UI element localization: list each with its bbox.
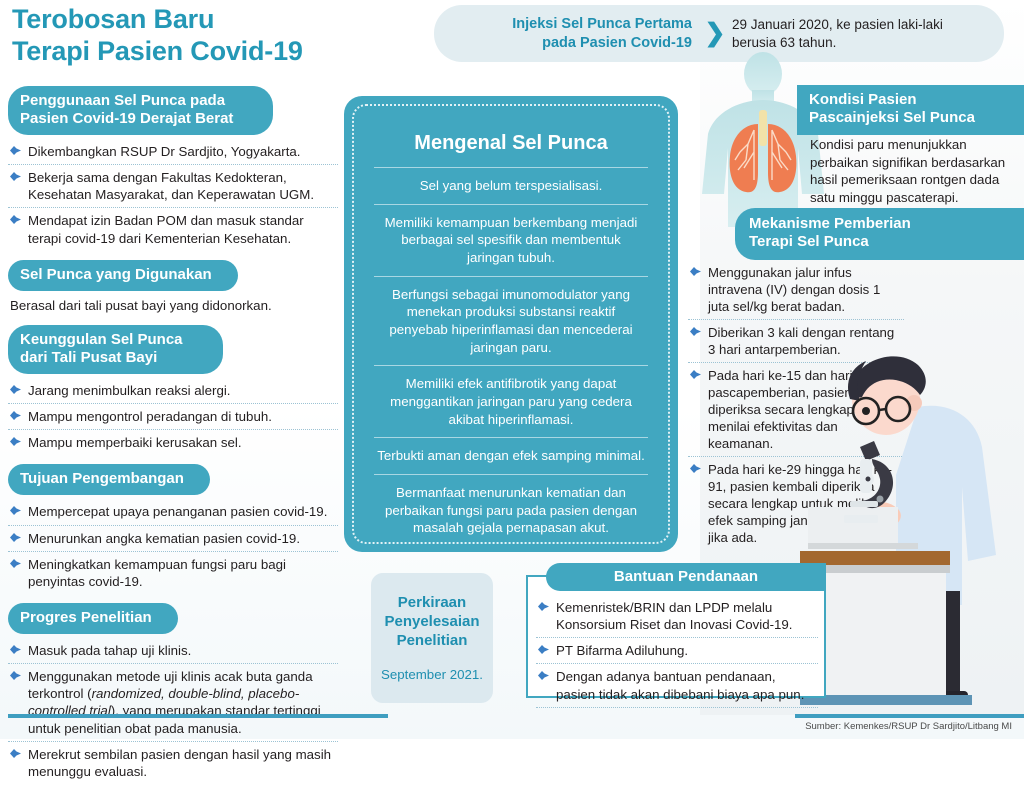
center-item: Memiliki kemampuan berkembang menjadi be… — [374, 204, 648, 276]
list-item: Dengan adanya bantuan pendanaan, pasien … — [536, 664, 818, 707]
center-item: Berfungsi sebagai imunomodulator yang me… — [374, 276, 648, 366]
arrow-bullet-icon — [10, 559, 21, 568]
perkiraan-penyelesaian-box: PerkiraanPenyelesaianPenelitian Septembe… — [371, 573, 493, 703]
section-penggunaan-heading: Penggunaan Sel Punca padaPasien Covid-19… — [8, 86, 273, 135]
scientist-microscope-illustration — [800, 355, 1024, 713]
list-item: Jarang menimbulkan reaksi alergi. — [8, 378, 338, 404]
arrow-bullet-icon — [10, 749, 21, 758]
list-item-text: Kemenristek/BRIN dan LPDP melalu Konsors… — [556, 600, 793, 632]
arrow-bullet-icon — [10, 172, 21, 181]
kondisi-pasien-heading: Kondisi PasienPascainjeksi Sel Punca — [797, 85, 1024, 135]
first-injection-text: 29 Januari 2020, ke pasien laki-laki ber… — [732, 16, 1004, 52]
mekanisme-heading: Mekanisme PemberianTerapi Sel Punca — [735, 208, 1024, 260]
section-penggunaan: Penggunaan Sel Punca padaPasien Covid-19… — [8, 86, 338, 251]
center-item: Bermanfaat menurunkan kematian dan perba… — [374, 474, 648, 546]
arrow-bullet-icon — [538, 602, 549, 611]
section-tujuan-heading: Tujuan Pengembangan — [8, 464, 210, 495]
tujuan-list: Mempercepat upaya penanganan pasien covi… — [8, 499, 338, 594]
list-item-text: Mampu mengontrol peradangan di tubuh. — [28, 409, 272, 424]
chevron-right-icon: ❯ — [698, 21, 732, 46]
section-sel-punca-digunakan-heading: Sel Punca yang Digunakan — [8, 260, 238, 291]
perkiraan-title: PerkiraanPenyelesaianPenelitian — [384, 594, 479, 650]
list-item-text: Diberikan 3 kali dengan rentang 3 hari a… — [708, 325, 894, 357]
infographic-page: Terobosan BaruTerapi Pasien Covid-19 Inj… — [0, 0, 1024, 739]
footer-rule-left — [8, 714, 388, 718]
arrow-bullet-icon — [10, 506, 21, 515]
progres-list: Masuk pada tahap uji klinis. Menggunakan… — [8, 638, 338, 784]
bantuan-list: Kemenristek/BRIN dan LPDP melalu Konsors… — [536, 595, 818, 708]
arrow-bullet-icon — [690, 464, 701, 473]
list-item: Menggunakan metode uji klinis acak buta … — [8, 664, 338, 742]
arrow-bullet-icon — [10, 671, 21, 680]
mengenal-sel-punca-inner: Mengenal Sel Punca Sel yang belum terspe… — [352, 104, 670, 544]
arrow-bullet-icon — [538, 645, 549, 654]
penggunaan-list: Dikembangkan RSUP Dr Sardjito, Yogyakart… — [8, 139, 338, 251]
center-item: Terbukti aman dengan efek samping minima… — [374, 437, 648, 474]
arrow-bullet-icon — [10, 385, 21, 394]
list-item: Mendapat izin Badan POM dan masuk standa… — [8, 208, 338, 250]
mengenal-sel-punca-panel: Mengenal Sel Punca Sel yang belum terspe… — [344, 96, 678, 552]
list-item: Menggunakan jalur infus intravena (IV) d… — [688, 260, 904, 320]
list-item: Dikembangkan RSUP Dr Sardjito, Yogyakart… — [8, 139, 338, 165]
list-item-text: Menurunkan angka kematian pasien covid-1… — [28, 531, 300, 546]
arrow-bullet-icon — [690, 370, 701, 379]
source-credit: Sumber: Kemenkes/RSUP Dr Sardjito/Litban… — [805, 721, 1012, 732]
list-item-text: Bekerja sama dengan Fakultas Kedokteran,… — [28, 170, 314, 202]
footer-rule-right — [795, 714, 1024, 718]
list-item-text: Jarang menimbulkan reaksi alergi. — [28, 383, 231, 398]
list-item: Mempercepat upaya penanganan pasien covi… — [8, 499, 338, 525]
arrow-bullet-icon — [690, 327, 701, 336]
list-item: Bekerja sama dengan Fakultas Kedokteran,… — [8, 165, 338, 208]
bantuan-list-wrap: Kemenristek/BRIN dan LPDP melalu Konsors… — [536, 591, 818, 708]
page-title: Terobosan BaruTerapi Pasien Covid-19 — [12, 4, 442, 68]
list-item-text: Dengan adanya bantuan pendanaan, pasien … — [556, 669, 804, 701]
keunggulan-list: Jarang menimbulkan reaksi alergi. Mampu … — [8, 378, 338, 455]
first-injection-label: Injeksi Sel Punca Pertamapada Pasien Cov… — [434, 15, 698, 51]
arrow-bullet-icon — [538, 671, 549, 680]
arrow-bullet-icon — [10, 411, 21, 420]
section-sel-punca-digunakan: Sel Punca yang Digunakan Berasal dari ta… — [8, 260, 338, 316]
section-keunggulan: Keunggulan Sel Puncadari Tali Pusat Bayi… — [8, 325, 338, 455]
list-item: Menurunkan angka kematian pasien covid-1… — [8, 526, 338, 552]
arrow-bullet-icon — [10, 437, 21, 446]
section-progres-heading: Progres Penelitian — [8, 603, 178, 634]
section-progres: Progres Penelitian Masuk pada tahap uji … — [8, 603, 338, 784]
arrow-bullet-icon — [10, 215, 21, 224]
center-item: Sel yang belum terspesialisasi. — [374, 167, 648, 204]
list-item: Mampu mengontrol peradangan di tubuh. — [8, 404, 338, 430]
section-tujuan: Tujuan Pengembangan Mempercepat upaya pe… — [8, 464, 338, 594]
list-item-text: Dikembangkan RSUP Dr Sardjito, Yogyakart… — [28, 144, 300, 159]
center-item: Memiliki efek antifibrotik yang dapat me… — [374, 365, 648, 437]
list-item-text: Mendapat izin Badan POM dan masuk standa… — [28, 213, 304, 245]
list-item: Masuk pada tahap uji klinis. — [8, 638, 338, 664]
list-item-text: Menggunakan metode uji klinis acak buta … — [28, 669, 321, 735]
perkiraan-date: September 2021. — [381, 667, 483, 682]
list-item-text: Menggunakan jalur infus intravena (IV) d… — [708, 265, 880, 314]
list-item: Meningkatkan kemampuan fungsi paru bagi … — [8, 552, 338, 594]
arrow-bullet-icon — [690, 267, 701, 276]
arrow-bullet-icon — [10, 146, 21, 155]
kondisi-pasien-text: Kondisi paru menunjukkan perbaikan signi… — [810, 136, 1022, 207]
list-item-text: Merekrut sembilan pasien dengan hasil ya… — [28, 747, 331, 779]
list-item-text: Masuk pada tahap uji klinis. — [28, 643, 191, 658]
list-item-text: PT Bifarma Adiluhung. — [556, 643, 688, 658]
list-item-text: Mempercepat upaya penanganan pasien covi… — [28, 504, 327, 519]
arrow-bullet-icon — [10, 533, 21, 542]
list-item-text: Meningkatkan kemampuan fungsi paru bagi … — [28, 557, 286, 589]
mengenal-sel-punca-title: Mengenal Sel Punca — [374, 132, 648, 155]
left-column: Penggunaan Sel Punca padaPasien Covid-19… — [8, 86, 338, 793]
list-item: Mampu memperbaiki kerusakan sel. — [8, 430, 338, 455]
arrow-bullet-icon — [10, 645, 21, 654]
list-item-text: Mampu memperbaiki kerusakan sel. — [28, 435, 242, 450]
section-keunggulan-heading: Keunggulan Sel Puncadari Tali Pusat Bayi — [8, 325, 223, 374]
list-item: Kemenristek/BRIN dan LPDP melalu Konsors… — [536, 595, 818, 638]
list-item: PT Bifarma Adiluhung. — [536, 638, 818, 664]
sel-punca-digunakan-text: Berasal dari tali pusat bayi yang didono… — [8, 291, 338, 316]
list-item: Merekrut sembilan pasien dengan hasil ya… — [8, 742, 338, 784]
bantuan-pendanaan-heading: Bantuan Pendanaan — [546, 563, 826, 591]
